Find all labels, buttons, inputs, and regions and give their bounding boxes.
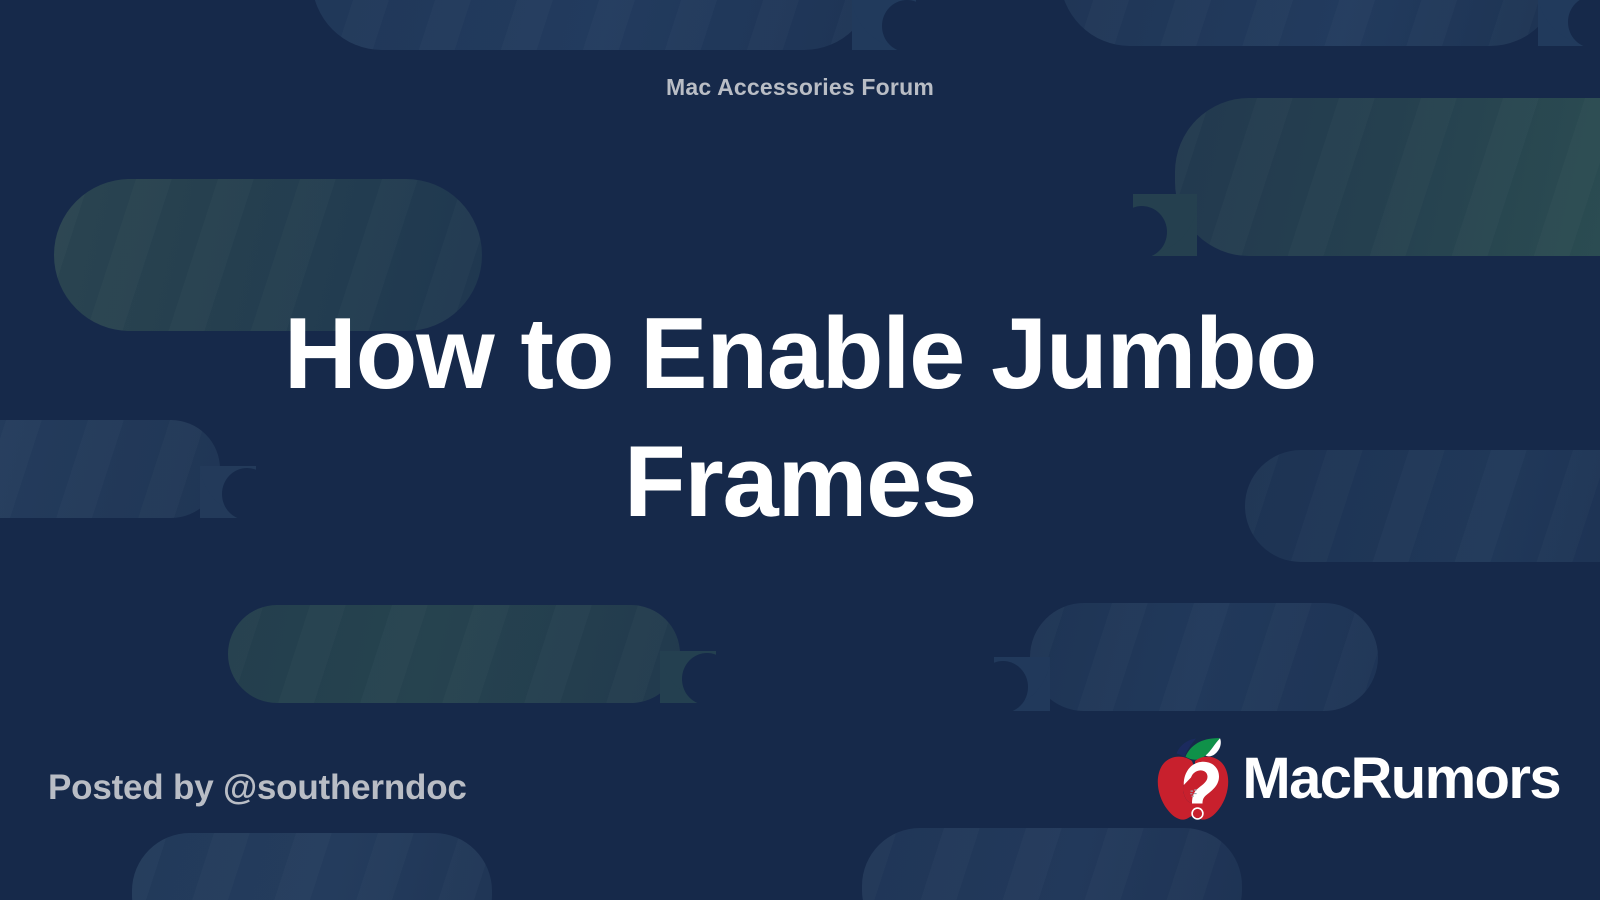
posted-by-label: Posted by @southerndoc [48, 768, 467, 808]
apple-question-mark-logo-icon [1150, 733, 1236, 825]
forum-name: Mac Accessories Forum [0, 74, 1600, 101]
page-title: How to Enable Jumbo Frames [110, 290, 1490, 547]
share-card: Mac Accessories Forum How to Enable Jumb… [0, 0, 1600, 900]
macrumors-logo: MacRumors [1150, 733, 1560, 825]
macrumors-wordmark: MacRumors [1242, 750, 1560, 808]
card-content: Mac Accessories Forum How to Enable Jumb… [0, 0, 1600, 900]
